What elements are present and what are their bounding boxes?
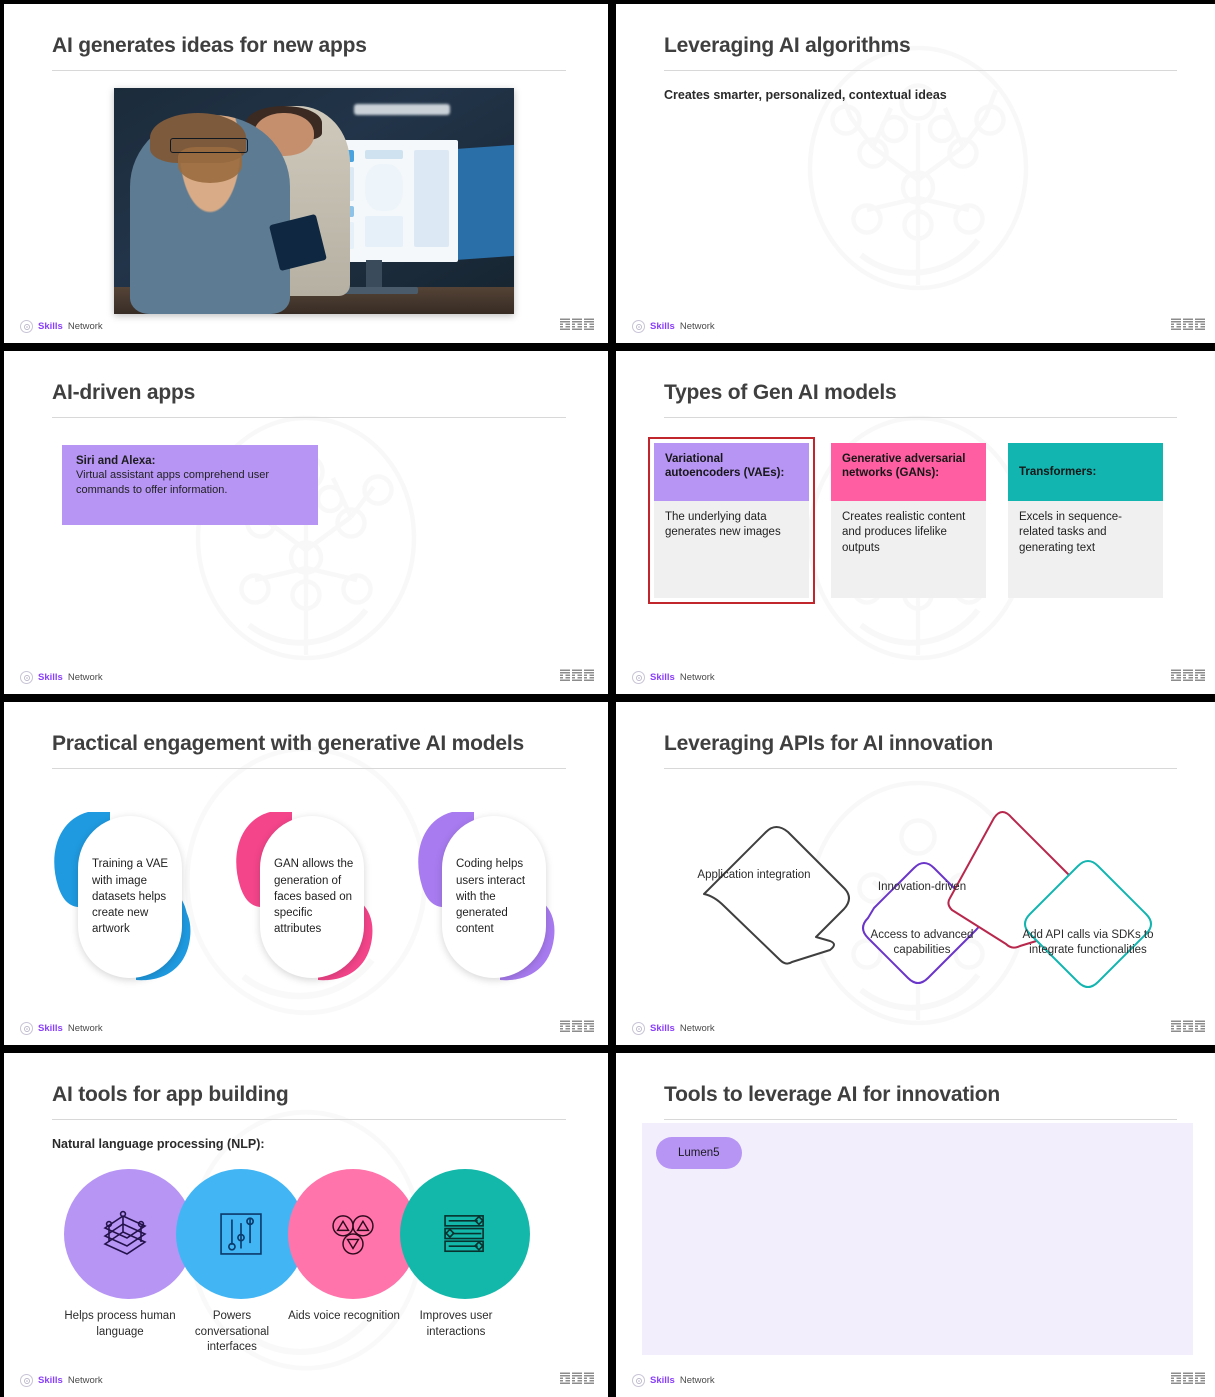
ibm-logo <box>1171 318 1205 332</box>
bubble-application-integration[interactable] <box>704 827 849 964</box>
nlp-caption-row: Helps process human language Powers conv… <box>64 1309 512 1356</box>
nlp-icon-circles <box>64 1169 530 1299</box>
model-card-gan[interactable]: Generative adversarial networks (GANs): … <box>831 443 986 598</box>
three-circles-triangles-icon <box>324 1205 382 1263</box>
ibm-logo <box>560 1372 594 1386</box>
title-divider <box>664 1119 1177 1120</box>
sliders-panel-icon <box>212 1205 270 1263</box>
ibm-logo <box>560 1020 594 1034</box>
slide-types-of-gen-ai-models[interactable]: Types of Gen AI models Variational autoe… <box>616 351 1215 694</box>
pill-card: GAN allows the generation of faces based… <box>260 816 364 978</box>
footer-skills-label: Skills <box>650 672 675 683</box>
tool-chip-lumen5[interactable]: Lumen5 <box>656 1137 742 1169</box>
skills-network-circle-icon <box>632 671 645 684</box>
slide-deck-grid: AI generates ideas for new apps <box>0 0 1215 1373</box>
page-title: Tools to leverage AI for innovation <box>664 1083 1177 1107</box>
nlp-caption-conversational: Powers conversational interfaces <box>176 1309 288 1356</box>
pill-card: Coding helps users interact with the gen… <box>442 816 546 978</box>
photo-monitor-stand <box>366 260 382 289</box>
slide-ai-generates-ideas[interactable]: AI generates ideas for new apps <box>4 4 608 343</box>
card-body: Excels in sequence-related tasks and gen… <box>1008 501 1163 598</box>
footer-branding: Skills Network <box>632 1374 715 1387</box>
pill-text: Training a VAE with image datasets helps… <box>78 856 182 938</box>
hero-photo <box>114 88 514 314</box>
skills-network-circle-icon <box>20 320 33 333</box>
footer-branding: Skills Network <box>632 671 715 684</box>
bubble-label-innovation-driven: Innovation-driven <box>842 880 1002 895</box>
photo-ceiling-light <box>354 104 450 115</box>
ibm-logo <box>560 318 594 332</box>
nlp-caption-voice: Aids voice recognition <box>288 1309 400 1356</box>
model-card-vae[interactable]: Variational autoencoders (VAEs): The und… <box>654 443 809 598</box>
title-divider <box>664 768 1177 769</box>
nlp-caption-language: Helps process human language <box>64 1309 176 1356</box>
nlp-caption-interactions: Improves user interactions <box>400 1309 512 1356</box>
bubble-diagram: Application integration Innovation-drive… <box>616 776 1215 1026</box>
pill-item-gan[interactable]: GAN allows the generation of faces based… <box>230 802 378 992</box>
slide-ai-tools-for-app-building[interactable]: AI tools for app building Natural langua… <box>4 1053 608 1397</box>
skills-network-circle-icon <box>20 1022 33 1035</box>
photo-monitor-base <box>338 287 418 294</box>
card-body: The underlying data generates new images <box>654 501 809 598</box>
card-body: Creates realistic content and produces l… <box>831 501 986 598</box>
pill-item-coding[interactable]: Coding helps users interact with the gen… <box>412 802 560 992</box>
skills-network-circle-icon <box>632 320 645 333</box>
tree-network-watermark-icon <box>768 30 1068 330</box>
page-title: Types of Gen AI models <box>664 381 1177 405</box>
footer-skills-label: Skills <box>38 1375 63 1386</box>
slide-tools-to-leverage-ai[interactable]: Tools to leverage AI for innovation Lume… <box>616 1053 1215 1397</box>
model-card-transformers[interactable]: Transformers: Excels in sequence-related… <box>1008 443 1163 598</box>
footer-branding: Skills Network <box>632 1022 715 1035</box>
photo-secondary-monitor <box>450 144 514 259</box>
footer-network-label: Network <box>680 321 715 332</box>
page-title: AI-driven apps <box>52 381 566 405</box>
pill-text: GAN allows the generation of faces based… <box>260 856 364 938</box>
ibm-logo <box>1171 669 1205 683</box>
page-title: AI generates ideas for new apps <box>52 34 566 58</box>
footer-branding: Skills Network <box>20 1022 103 1035</box>
nlp-circle-voice[interactable] <box>288 1169 418 1299</box>
footer-branding: Skills Network <box>20 671 103 684</box>
skills-network-circle-icon <box>20 1374 33 1387</box>
layers-network-icon <box>97 1202 161 1266</box>
footer-network-label: Network <box>68 1023 103 1034</box>
ibm-logo <box>560 669 594 683</box>
page-title: Practical engagement with generative AI … <box>52 732 566 756</box>
footer-skills-label: Skills <box>650 1375 675 1386</box>
slide-practical-engagement[interactable]: Practical engagement with generative AI … <box>4 702 608 1045</box>
ibm-logo <box>1171 1020 1205 1034</box>
footer-skills-label: Skills <box>38 1023 63 1034</box>
title-divider <box>52 70 566 71</box>
card-heading: Generative adversarial networks (GANs): <box>831 443 986 501</box>
footer-network-label: Network <box>680 1023 715 1034</box>
card-heading: Variational autoencoders (VAEs): <box>654 443 809 501</box>
pill-list: Training a VAE with image datasets helps… <box>48 802 560 992</box>
nlp-circle-interactions[interactable] <box>400 1169 530 1299</box>
pill-card: Training a VAE with image datasets helps… <box>78 816 182 978</box>
footer-branding: Skills Network <box>20 320 103 333</box>
bubble-label-access-advanced: Access to advanced capabilities <box>862 928 982 958</box>
title-divider <box>664 417 1177 418</box>
bubble-label-add-api-calls: Add API calls via SDKs to integrate func… <box>1018 928 1158 958</box>
slide-ai-driven-apps[interactable]: AI-driven apps Siri and Alexa: Virtual a… <box>4 351 608 694</box>
horizontal-sliders-icon <box>436 1205 494 1263</box>
slide-subtitle: Creates smarter, personalized, contextua… <box>664 88 947 102</box>
pill-text: Coding helps users interact with the gen… <box>442 856 546 938</box>
title-divider <box>52 1119 566 1120</box>
footer-network-label: Network <box>68 672 103 683</box>
footer-network-label: Network <box>680 672 715 683</box>
footer-branding: Skills Network <box>20 1374 103 1387</box>
page-title: Leveraging APIs for AI innovation <box>664 732 1177 756</box>
skills-network-circle-icon <box>20 671 33 684</box>
footer-network-label: Network <box>680 1375 715 1386</box>
footer-branding: Skills Network <box>632 320 715 333</box>
ibm-logo <box>1171 1372 1205 1386</box>
footer-skills-label: Skills <box>38 672 63 683</box>
nlp-circle-conversational[interactable] <box>176 1169 306 1299</box>
tools-panel: Lumen5 <box>642 1123 1193 1355</box>
title-divider <box>664 70 1177 71</box>
bubble-label-application-integration: Application integration <box>694 868 814 883</box>
title-divider <box>52 768 566 769</box>
slide-leveraging-apis[interactable]: Leveraging APIs for AI innovation Applic… <box>616 702 1215 1045</box>
footer-network-label: Network <box>68 1375 103 1386</box>
page-title: Leveraging AI algorithms <box>664 34 1177 58</box>
footer-skills-label: Skills <box>650 321 675 332</box>
skills-network-circle-icon <box>632 1374 645 1387</box>
callout-heading: Siri and Alexa: <box>76 455 304 467</box>
slide-leveraging-ai-algorithms[interactable]: Leveraging AI algorithms Creates smarter… <box>616 4 1215 343</box>
footer-skills-label: Skills <box>650 1023 675 1034</box>
bubble-shapes <box>616 776 1215 1026</box>
photo-eyeglasses <box>170 138 248 154</box>
footer-skills-label: Skills <box>38 321 63 332</box>
page-title: AI tools for app building <box>52 1083 566 1107</box>
model-card-list: Variational autoencoders (VAEs): The und… <box>654 443 1163 598</box>
card-heading: Transformers: <box>1008 443 1163 501</box>
pill-item-vae[interactable]: Training a VAE with image datasets helps… <box>48 802 196 992</box>
siri-alexa-callout: Siri and Alexa: Virtual assistant apps c… <box>62 445 318 525</box>
skills-network-circle-icon <box>632 1022 645 1035</box>
nlp-circle-language[interactable] <box>64 1169 194 1299</box>
title-divider <box>52 417 566 418</box>
slide-subtitle: Natural language processing (NLP): <box>52 1137 265 1151</box>
footer-network-label: Network <box>68 321 103 332</box>
callout-body: Virtual assistant apps comprehend user c… <box>76 468 304 497</box>
